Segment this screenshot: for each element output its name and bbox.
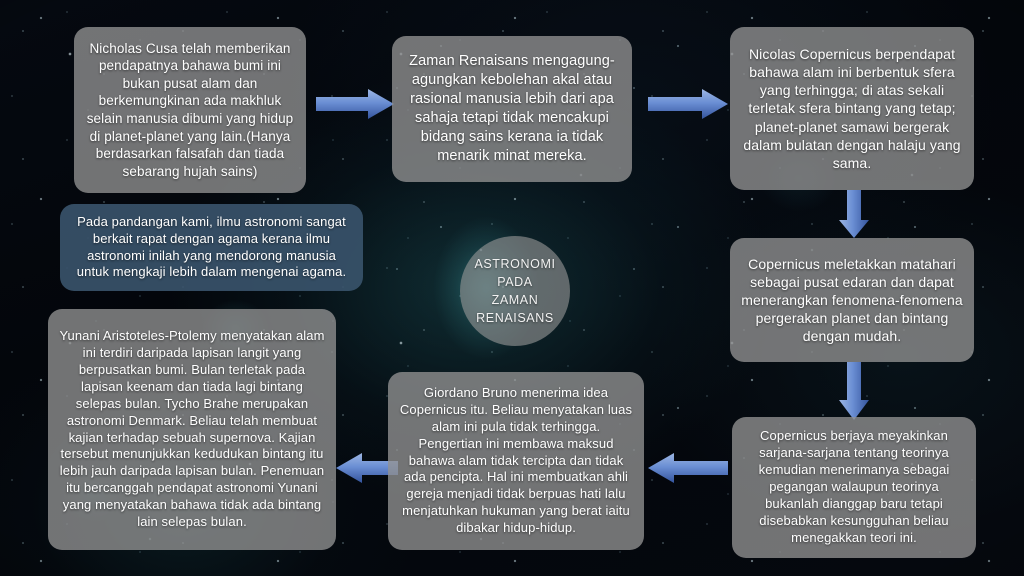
node-yunani-aristoteles-text: Yunani Aristoteles-Ptolemy menyatakan al… xyxy=(58,328,326,531)
node-copernicus-sfera[interactable]: Nicolas Copernicus berpendapat bahawa al… xyxy=(730,27,974,190)
arrow-berjaya-to-bruno xyxy=(648,452,728,484)
hub-line-3: ZAMAN xyxy=(474,291,555,309)
node-zaman-renaisans-text: Zaman Renaisans mengagung-agungkan kebol… xyxy=(402,52,622,165)
node-pandangan-kami[interactable]: Pada pandangan kami, ilmu astronomi sang… xyxy=(60,204,363,291)
arrow-copernicus-sfera-to-matahari xyxy=(838,190,870,238)
node-pandangan-kami-text: Pada pandangan kami, ilmu astronomi sang… xyxy=(70,214,353,282)
node-giordano-bruno-text: Giordano Bruno menerima idea Copernicus … xyxy=(398,385,634,537)
arrow-renaisans-to-copernicus xyxy=(648,88,728,120)
node-copernicus-matahari[interactable]: Copernicus meletakkan matahari sebagai p… xyxy=(730,238,974,362)
node-giordano-bruno[interactable]: Giordano Bruno menerima idea Copernicus … xyxy=(388,372,644,550)
node-copernicus-matahari-text: Copernicus meletakkan matahari sebagai p… xyxy=(740,255,964,346)
arrow-cusa-to-renaisans xyxy=(316,88,394,120)
node-copernicus-berjaya[interactable]: Copernicus berjaya meyakinkan sarjana-sa… xyxy=(732,417,976,558)
center-hub: ASTRONOMI PADA ZAMAN RENAISANS xyxy=(460,236,570,346)
node-copernicus-berjaya-text: Copernicus berjaya meyakinkan sarjana-sa… xyxy=(742,428,966,546)
node-nicholas-cusa-text: Nicholas Cusa telah memberikan pendapatn… xyxy=(84,40,296,180)
node-zaman-renaisans[interactable]: Zaman Renaisans mengagung-agungkan kebol… xyxy=(392,36,632,182)
node-copernicus-sfera-text: Nicolas Copernicus berpendapat bahawa al… xyxy=(740,45,964,172)
slide-canvas: ASTRONOMI PADA ZAMAN RENAISANS Nicholas … xyxy=(0,0,1024,576)
node-nicholas-cusa[interactable]: Nicholas Cusa telah memberikan pendapatn… xyxy=(74,27,306,193)
hub-line-1: ASTRONOMI xyxy=(474,255,555,273)
hub-line-4: RENAISANS xyxy=(474,309,555,327)
hub-line-2: PADA xyxy=(474,273,555,291)
node-yunani-aristoteles[interactable]: Yunani Aristoteles-Ptolemy menyatakan al… xyxy=(48,309,336,550)
arrow-copernicus-matahari-to-berjaya xyxy=(838,362,870,420)
